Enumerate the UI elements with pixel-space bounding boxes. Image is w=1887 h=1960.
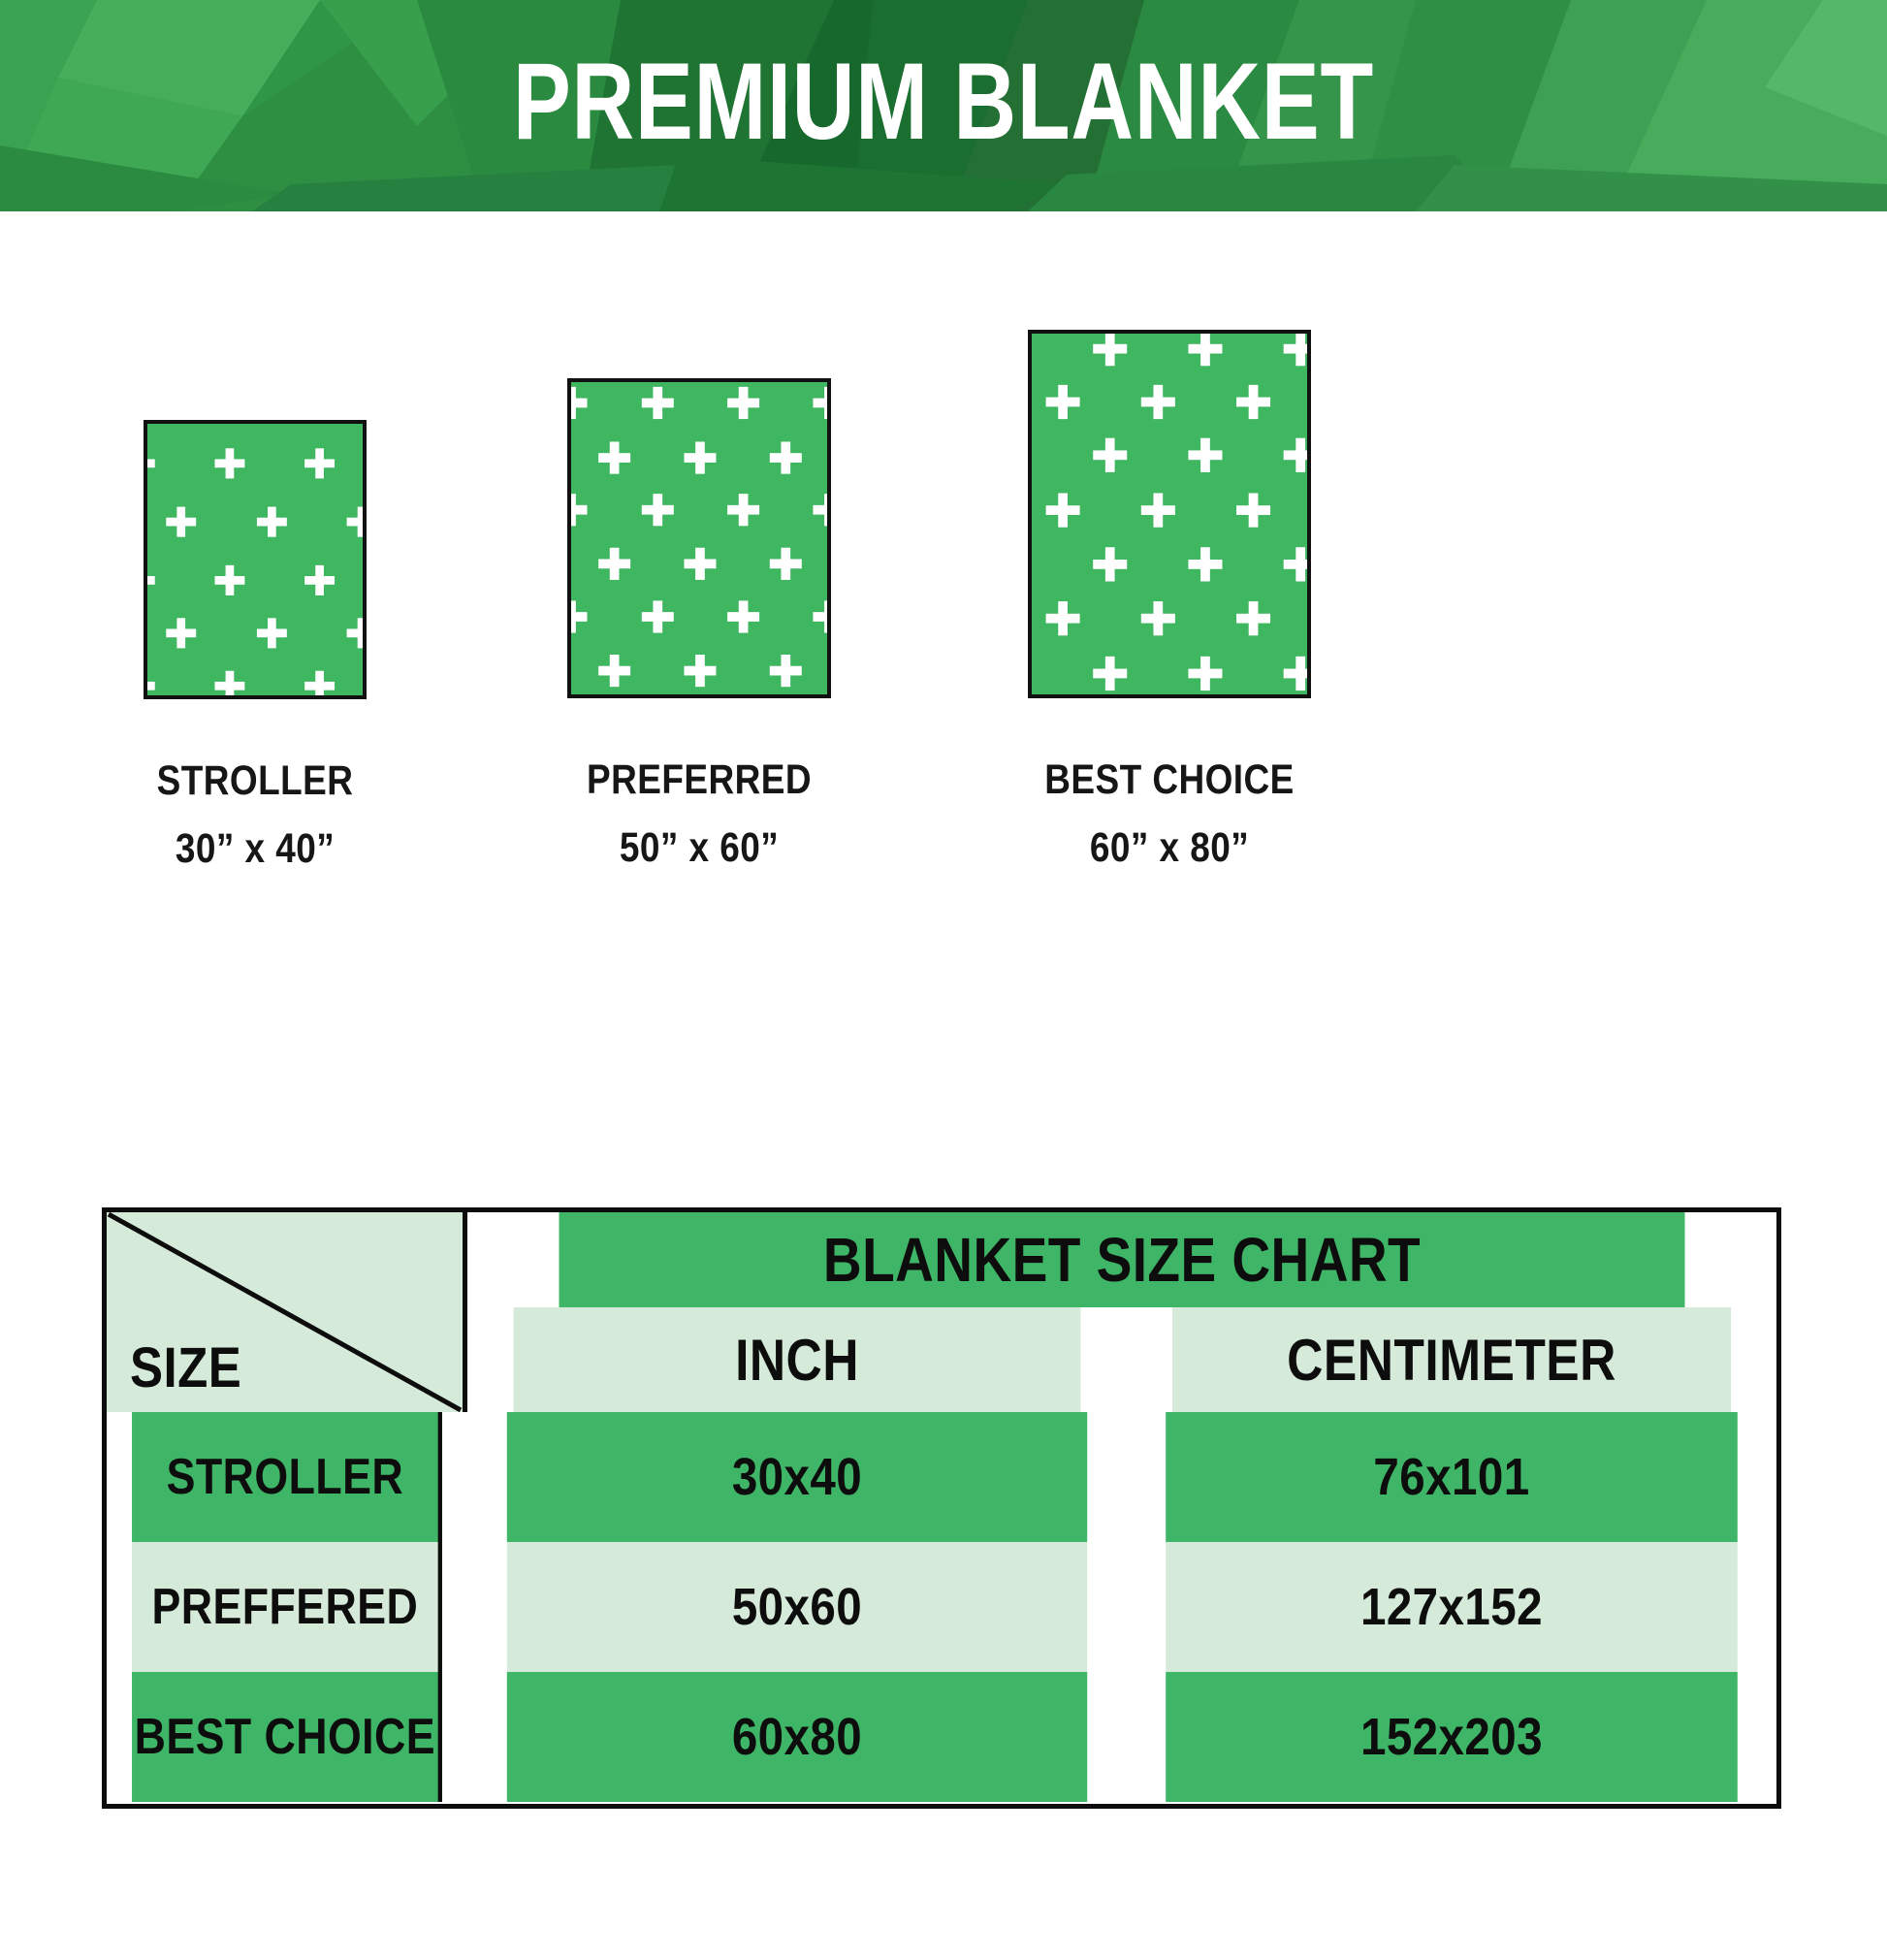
table-header-inch: INCH <box>514 1307 1081 1412</box>
swatch-label-dims-stroller: 30” x 40” <box>110 825 401 873</box>
swatch-label-dims-preferred: 50” x 60” <box>535 824 862 872</box>
cross-pattern-icon <box>571 382 827 694</box>
swatch-label-dims-best-choice: 60” x 80” <box>989 824 1350 872</box>
cross-pattern-icon <box>147 424 363 695</box>
table-cell-cm-preffered: 127x152 <box>1166 1542 1738 1672</box>
table-corner-size-cell: SIZE <box>107 1212 467 1412</box>
table-row: PREFFERED 50x60 127x152 <box>107 1542 1776 1672</box>
page-header: PREMIUM BLANKET <box>0 0 1887 211</box>
swatch-section: STROLLER 30” x 40” <box>0 211 1887 1181</box>
blanket-swatch-stroller <box>144 420 367 699</box>
swatch-label-name-stroller: STROLLER <box>110 757 401 805</box>
table-header-centimeter: CENTIMETER <box>1172 1307 1731 1412</box>
blanket-swatch-preferred <box>567 378 831 698</box>
table-corner-size-label: SIZE <box>130 1335 241 1400</box>
blanket-size-chart-table: SIZE BLANKET SIZE CHART INCH CENTIMETER … <box>102 1207 1781 1809</box>
swatch-label-name-preferred: PREFERRED <box>535 756 862 804</box>
table-row: BEST CHOICE 60x80 152x203 <box>107 1672 1776 1802</box>
table-title-cell: BLANKET SIZE CHART <box>560 1212 1685 1307</box>
table-cell-size-preffered: PREFFERED <box>132 1542 442 1672</box>
page-title: PREMIUM BLANKET <box>189 0 1699 211</box>
table-row: STROLLER 30x40 76x101 <box>107 1412 1776 1542</box>
swatch-label-name-best-choice: BEST CHOICE <box>989 756 1350 804</box>
table-cell-cm-stroller: 76x101 <box>1166 1412 1738 1542</box>
table-cell-inch-preffered: 50x60 <box>507 1542 1087 1672</box>
cross-pattern-icon <box>1032 334 1307 694</box>
table-cell-inch-best-choice: 60x80 <box>507 1672 1087 1802</box>
table-cell-size-stroller: STROLLER <box>132 1412 442 1542</box>
table-cell-size-best-choice: BEST CHOICE <box>132 1672 442 1802</box>
table-cell-inch-stroller: 30x40 <box>507 1412 1087 1542</box>
table-cell-cm-best-choice: 152x203 <box>1166 1672 1738 1802</box>
blanket-swatch-best-choice <box>1028 330 1311 698</box>
